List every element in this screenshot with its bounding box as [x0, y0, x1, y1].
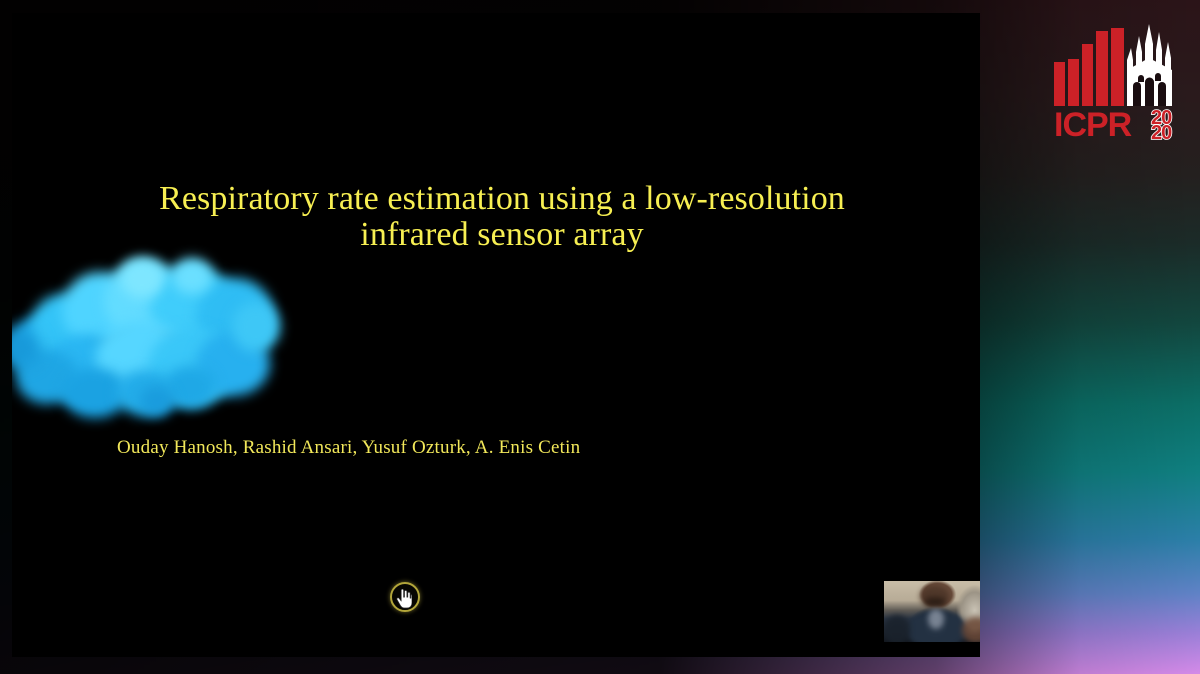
slide-authors: Ouday Hanosh, Rashid Ansari, Yusuf Oztur… — [117, 437, 580, 459]
presentation-slide[interactable]: Respiratory rate estimation using a low-… — [12, 13, 980, 657]
logo-year-bottom: 20 — [1151, 122, 1172, 140]
screen: Respiratory rate estimation using a low-… — [0, 0, 1200, 674]
slide-title: Respiratory rate estimation using a low-… — [72, 181, 932, 253]
hand-pointer-cursor — [396, 589, 412, 609]
icpr-2020-logo: ICPR 20 20 — [1052, 18, 1192, 140]
logo-bars — [1054, 28, 1124, 106]
presenter-webcam-thumbnail[interactable] — [884, 581, 980, 642]
logo-wordmark: ICPR — [1054, 106, 1132, 140]
blue-ink-cloud-image — [12, 258, 290, 428]
webcam-video-feed — [884, 581, 980, 642]
